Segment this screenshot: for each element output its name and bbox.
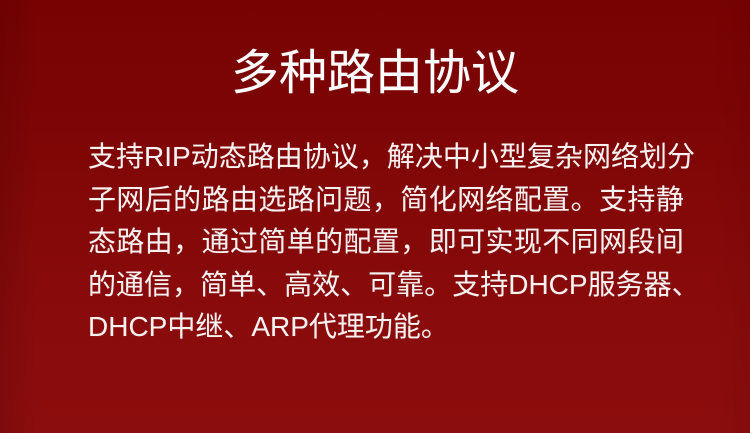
page-title: 多种路由协议 (0, 44, 750, 104)
body-line-3: 态路由，通过简单的配置，即可实现不同网段间 (88, 221, 684, 264)
body-line-2: 子网后的路由选路问题，简化网络配置。支持静 (88, 179, 684, 222)
feature-banner: 多种路由协议 支持RIP动态路由协议，解决中小型复杂网络划分 子网后的路由选路问… (0, 0, 750, 433)
banner-content: 多种路由协议 支持RIP动态路由协议，解决中小型复杂网络划分 子网后的路由选路问… (0, 0, 750, 433)
body-line-4: 的通信，简单、高效、可靠。支持DHCP服务器、 (88, 264, 684, 307)
body-line-5: DHCP中继、ARP代理功能。 (88, 306, 684, 349)
body-copy: 支持RIP动态路由协议，解决中小型复杂网络划分 子网后的路由选路问题，简化网络配… (88, 136, 684, 349)
body-line-1: 支持RIP动态路由协议，解决中小型复杂网络划分 (88, 136, 684, 179)
